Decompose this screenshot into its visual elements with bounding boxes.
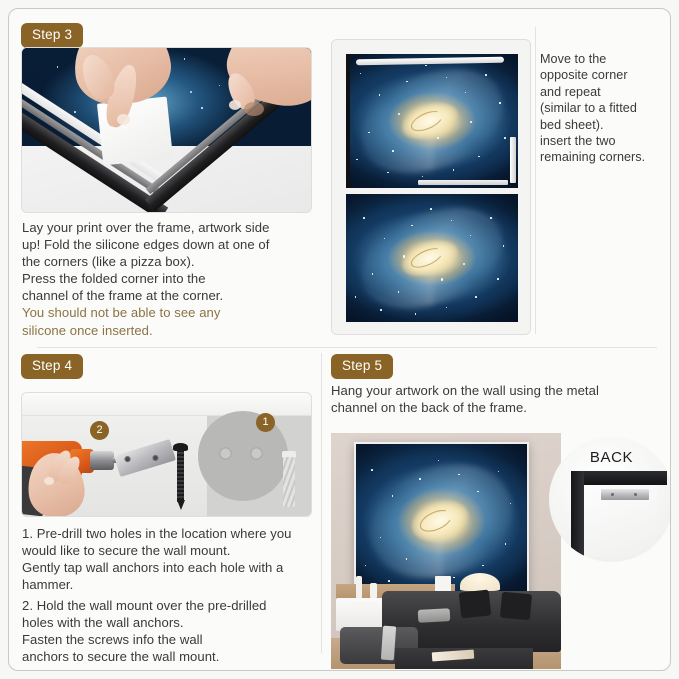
left-fingernail	[117, 114, 130, 125]
drill-chuck	[90, 451, 114, 470]
step-5-badge-wrapper: Step 5	[331, 354, 393, 379]
sofa-cushion-grey	[418, 608, 451, 623]
wall-anchor-body	[283, 457, 295, 507]
step-5-back-detail-callout: BACK	[549, 437, 671, 562]
unseated-bottom-edge-highlight	[418, 180, 507, 185]
star-field-top	[346, 54, 518, 188]
pre-drilled-hole-left	[219, 447, 232, 460]
step-5-caption: Hang your artwork on the wall using the …	[331, 382, 651, 416]
channel-screw-left	[611, 493, 614, 496]
step-3-right-caption: Move to the opposite corner and repeat (…	[540, 51, 665, 166]
star-field-bottom	[346, 194, 518, 322]
step-5-photo-living-room-with-artwork	[331, 433, 561, 669]
step-4-caption-1-wrapper: 1. Pre-drill two holes in the location w…	[22, 525, 318, 593]
galaxy-artwork-top	[346, 54, 518, 188]
drill-hand-nail	[44, 477, 54, 485]
bracket-screw-hole-right	[152, 454, 159, 461]
sofa-cushion-dark-far-right	[500, 592, 532, 621]
back-detail-label: BACK	[549, 449, 671, 466]
step-4-caption-2-wrapper: 2. Hold the wall mount over the pre-dril…	[22, 597, 318, 665]
step-4-photo-drill-and-wall-mount: 2 1	[21, 392, 312, 517]
step-3-photo-hands-folding-silicone	[21, 47, 312, 213]
column-divider-vertical-bottom	[321, 353, 322, 653]
step-3-right-caption-wrapper: Move to the opposite corner and repeat (…	[540, 51, 665, 166]
callout-badge-2: 2	[90, 421, 109, 440]
decor-candle-holder-tall	[356, 576, 362, 598]
frame-back-top-rail	[571, 471, 667, 485]
step-3-photo-print-fully-inserted	[346, 194, 518, 322]
screw-shaft	[177, 450, 184, 502]
bracket-screw-hole-left	[124, 455, 131, 462]
step-3-photo-group-galaxy-prints	[331, 39, 531, 335]
unseated-right-edge-highlight	[510, 137, 516, 183]
frame-back-left-rail	[571, 471, 584, 557]
step-3-bottom-divider	[37, 347, 657, 348]
floor-lamp-shade	[460, 573, 500, 591]
screw-tip	[177, 500, 185, 510]
step-4-badge-wrapper: Step 4	[21, 354, 83, 379]
callout-badge-1: 1	[256, 413, 275, 432]
step-4-caption-1: 1. Pre-drill two holes in the location w…	[22, 525, 318, 593]
step-3-badge: Step 3	[21, 23, 83, 48]
metal-hanging-channel	[601, 489, 649, 500]
frame-edge-left-top-photo	[346, 54, 350, 188]
step-5-badge: Step 5	[331, 354, 393, 379]
column-divider-vertical	[535, 27, 536, 334]
step-3-photo-print-partially-inserted	[346, 54, 518, 188]
right-hand-shadow	[244, 102, 264, 116]
decor-candle-holder-short	[370, 583, 377, 598]
step-3-caption-accent: You should not be able to see any silico…	[22, 304, 312, 338]
step-4-caption-2: 2. Hold the wall mount over the pre-dril…	[22, 597, 318, 665]
instruction-sheet: Step 3	[8, 8, 671, 671]
galaxy-artwork-bottom	[346, 194, 518, 322]
step-3-badge-wrapper: Step 3	[21, 23, 83, 48]
step-4-badge: Step 4	[21, 354, 83, 379]
step-3-caption-main: Lay your print over the frame, artwork s…	[22, 219, 312, 304]
right-fingernail	[229, 100, 241, 110]
step-5-caption-wrapper: Hang your artwork on the wall using the …	[331, 382, 651, 416]
pre-drilled-hole-right	[250, 447, 263, 460]
sofa-cushion-dark-right	[459, 590, 492, 619]
grey-throw-blanket	[380, 625, 395, 660]
channel-screw-right	[634, 493, 637, 496]
step-3-left-caption: Lay your print over the frame, artwork s…	[22, 219, 312, 339]
ceiling-surface	[22, 393, 311, 415]
decor-stacked-books	[352, 602, 378, 608]
